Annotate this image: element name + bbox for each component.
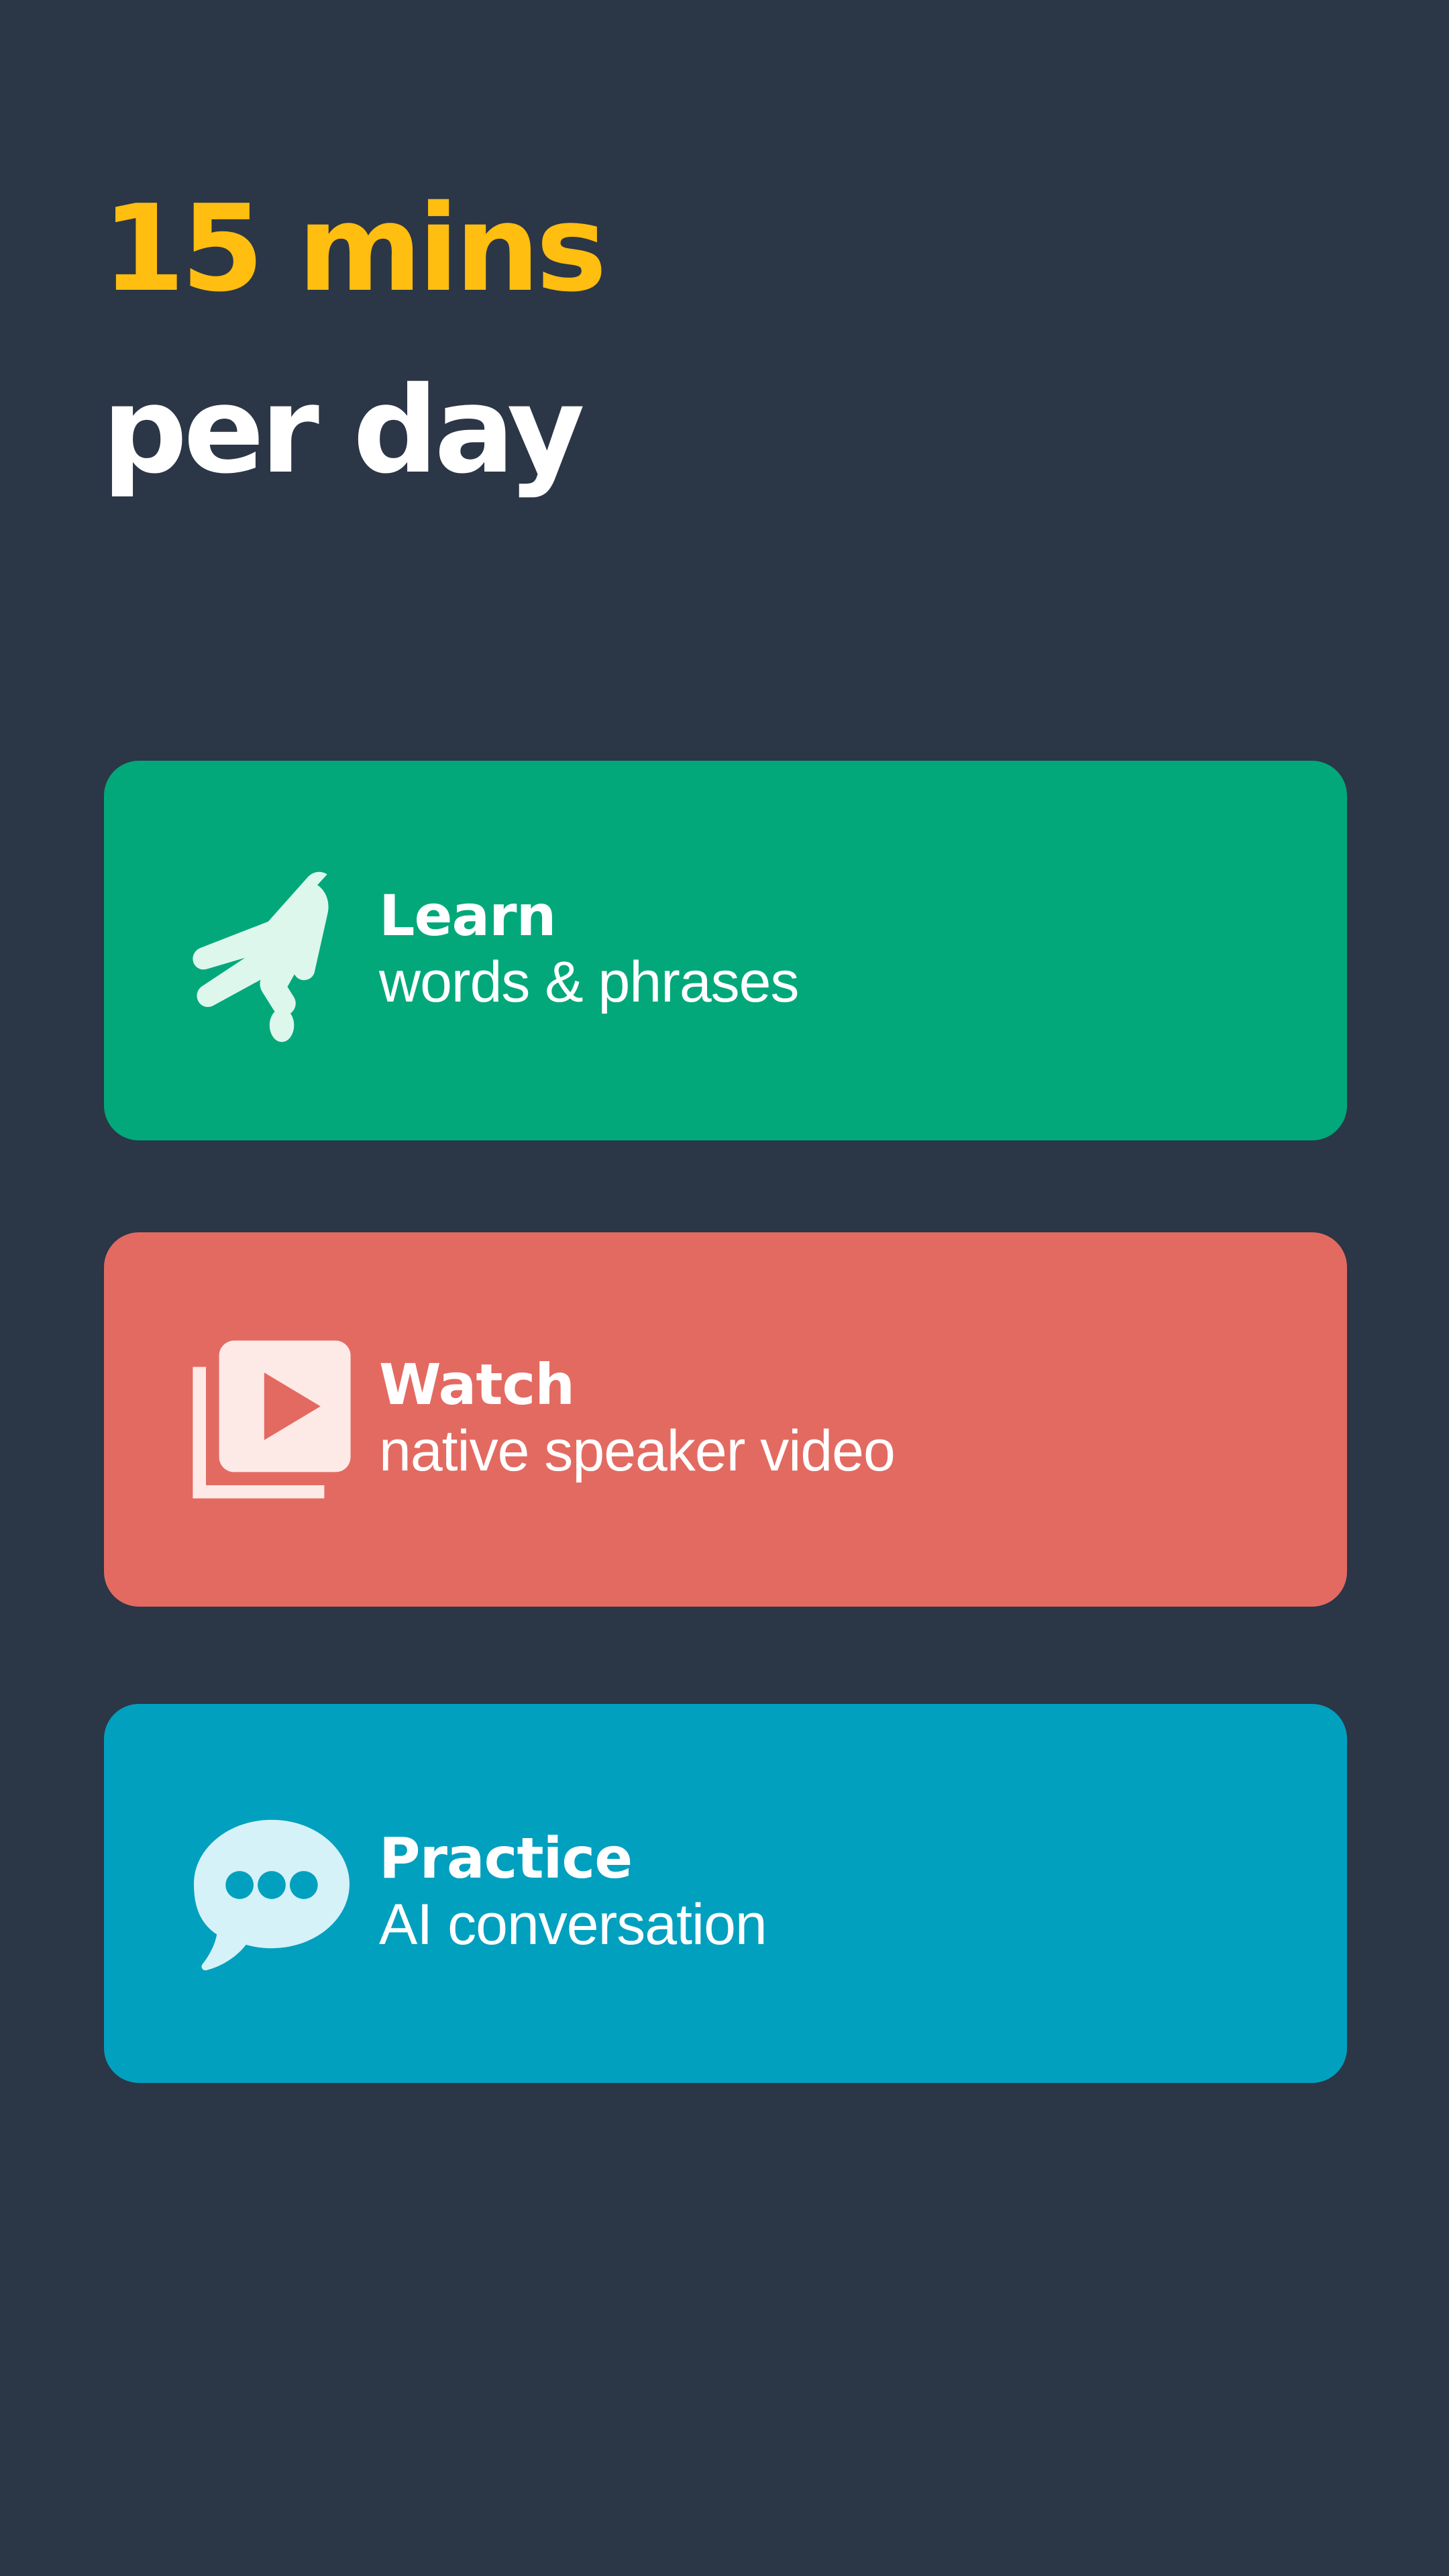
feature-card-text-watch: Watch native speaker video [379, 1353, 1347, 1487]
feature-card-practice[interactable]: Practice AI conversation [104, 1704, 1347, 2083]
feature-card-watch[interactable]: Watch native speaker video [104, 1232, 1347, 1607]
headline-block: 15 mins per day [102, 158, 1242, 521]
feature-card-subtitle: native speaker video [379, 1416, 1320, 1487]
headline-line-frequency: per day [102, 340, 1242, 522]
feature-card-subtitle: AI conversation [379, 1890, 1320, 1960]
pinching-hand-icon [171, 853, 372, 1048]
feature-card-title: Practice [379, 1827, 1320, 1890]
promo-screen: 15 mins per day Learn words & phrases [0, 0, 1449, 2576]
feature-card-text-learn: Learn words & phrases [379, 884, 1347, 1018]
feature-card-title: Learn [379, 884, 1320, 947]
headline-line-duration: 15 mins [102, 158, 1242, 340]
feature-card-text-practice: Practice AI conversation [379, 1827, 1347, 1960]
chat-bubble-dots-icon [171, 1796, 372, 1991]
feature-card-learn[interactable]: Learn words & phrases [104, 761, 1347, 1140]
video-library-play-icon [171, 1326, 372, 1513]
feature-card-subtitle: words & phrases [379, 947, 1320, 1018]
feature-card-list: Learn words & phrases Watch native speak… [104, 761, 1347, 2083]
feature-card-title: Watch [379, 1353, 1320, 1416]
